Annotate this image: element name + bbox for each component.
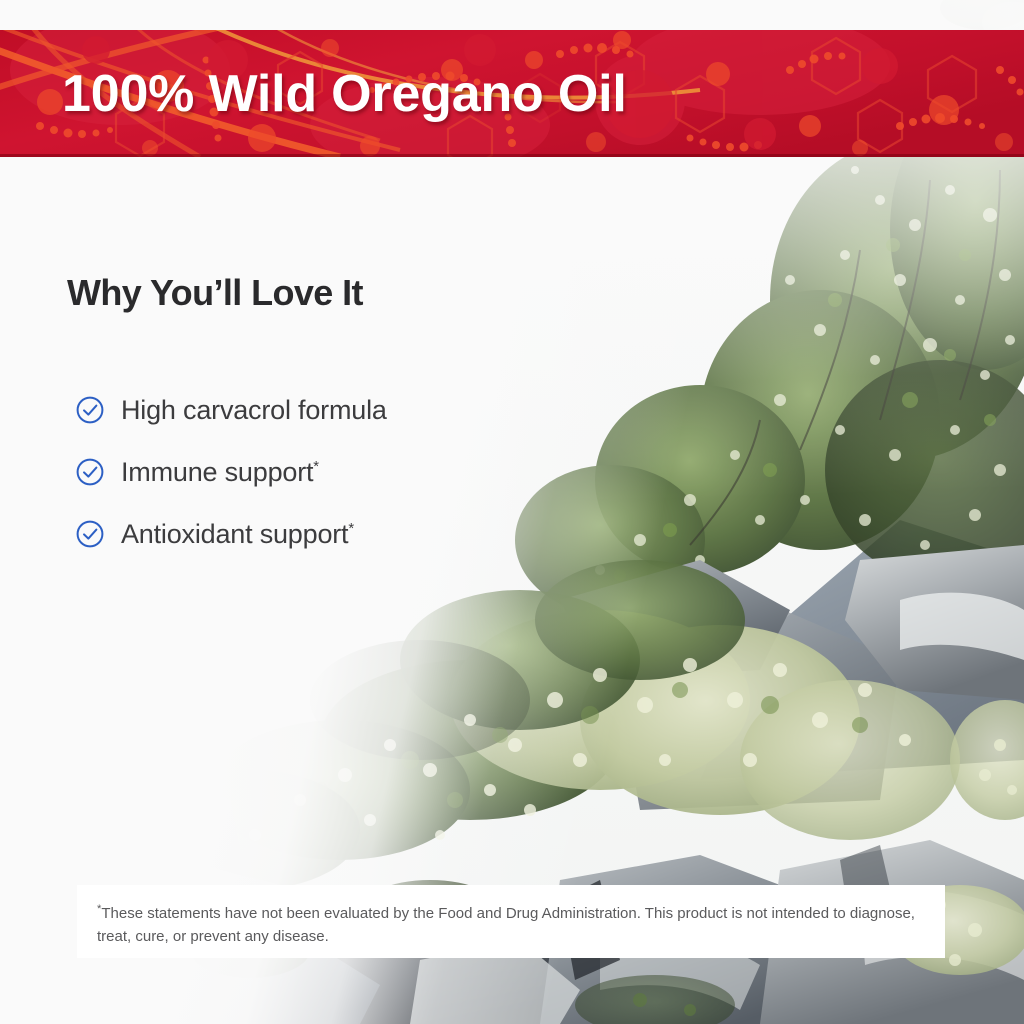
benefit-label: High carvacrol formula	[121, 397, 387, 424]
benefit-text: High carvacrol formula	[121, 395, 387, 425]
benefit-item: High carvacrol formula	[75, 379, 595, 441]
benefit-item: Immune support*	[75, 441, 595, 503]
banner-title: 100% Wild Oregano Oil	[62, 64, 627, 124]
disclaimer-body: These statements have not been evaluated…	[97, 905, 915, 945]
benefit-text: Immune support	[121, 457, 313, 487]
benefit-label: Antioxidant support*	[121, 521, 354, 548]
check-circle-icon	[75, 395, 105, 425]
product-infographic: 100% Wild Oregano Oil Why You’ll Love It…	[0, 0, 1024, 1024]
benefit-footnote-marker: *	[313, 459, 319, 475]
check-circle-icon	[75, 457, 105, 487]
benefit-label: Immune support*	[121, 459, 319, 486]
benefit-footnote-marker: *	[348, 521, 354, 537]
disclaimer-text: *These statements have not been evaluate…	[97, 902, 923, 949]
benefits-list: High carvacrol formula Immune support* A…	[75, 379, 595, 565]
benefit-item: Antioxidant support*	[75, 503, 595, 565]
banner-underline	[0, 154, 1024, 157]
section-heading: Why You’ll Love It	[67, 272, 363, 314]
disclaimer-box: *These statements have not been evaluate…	[77, 885, 945, 958]
benefit-text: Antioxidant support	[121, 519, 348, 549]
header-banner: 100% Wild Oregano Oil	[0, 30, 1024, 157]
check-circle-icon	[75, 519, 105, 549]
